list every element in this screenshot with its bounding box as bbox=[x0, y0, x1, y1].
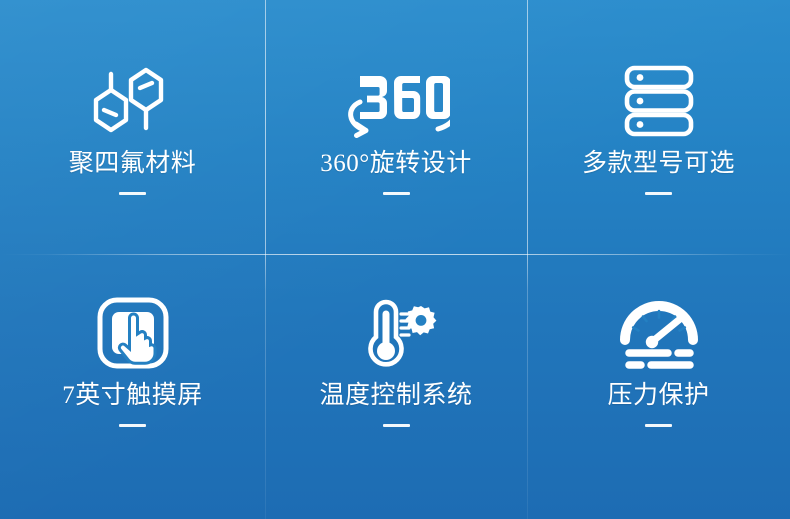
thermometer-gear-icon bbox=[353, 294, 439, 372]
feature-label: 温度控制系统 bbox=[319, 382, 472, 411]
feature-board: 聚四氟材料 bbox=[0, 0, 790, 519]
feature-dash bbox=[119, 424, 146, 427]
feature-cell-pressure-protection[interactable]: 压力保护 bbox=[527, 254, 790, 519]
feature-dash bbox=[383, 424, 410, 427]
360-rotation-icon bbox=[342, 62, 450, 140]
feature-cell-model-options[interactable]: 多款型号可选 bbox=[527, 0, 790, 254]
touch-screen-icon bbox=[96, 294, 170, 372]
feature-dash bbox=[119, 192, 146, 195]
feature-cell-touch-screen[interactable]: 7英寸触摸屏 bbox=[0, 254, 265, 519]
feature-cell-temperature-control[interactable]: 温度控制系统 bbox=[265, 254, 527, 519]
pressure-gauge-icon bbox=[618, 294, 700, 372]
feature-dash bbox=[645, 424, 672, 427]
server-stack-icon bbox=[619, 62, 699, 140]
feature-dash bbox=[645, 192, 672, 195]
feature-label: 压力保护 bbox=[607, 382, 709, 411]
feature-grid: 聚四氟材料 bbox=[0, 0, 790, 519]
feature-dash bbox=[383, 192, 410, 195]
feature-cell-ptfe-material[interactable]: 聚四氟材料 bbox=[0, 0, 265, 254]
feature-cell-rotation-design[interactable]: 360°旋转设计 bbox=[265, 0, 527, 254]
feature-label: 360°旋转设计 bbox=[320, 150, 472, 179]
feature-label: 7英寸触摸屏 bbox=[62, 382, 203, 411]
feature-label: 多款型号可选 bbox=[582, 150, 735, 179]
hexagon-molecule-icon bbox=[85, 62, 181, 140]
feature-label: 聚四氟材料 bbox=[69, 150, 197, 179]
